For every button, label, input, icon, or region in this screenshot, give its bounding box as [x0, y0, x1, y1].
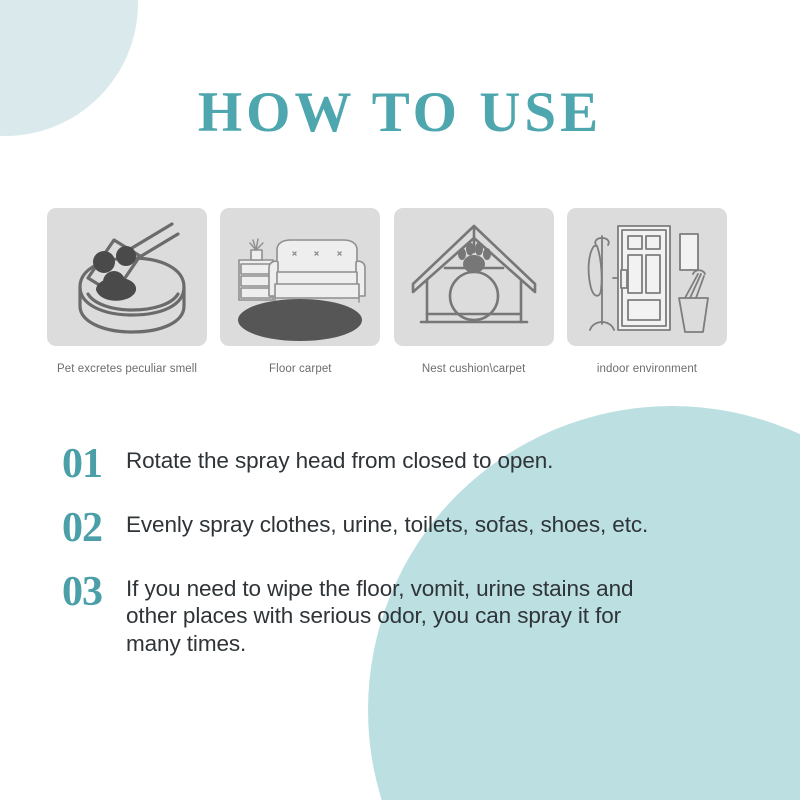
step-text-02: Evenly spray clothes, urine, toilets, so… — [126, 511, 648, 538]
how-to-use-poster: HOW TO USE — [0, 0, 800, 800]
scenario-caption-3: Nest cushion\carpet — [422, 363, 526, 375]
scenario-caption-1: Pet excretes peculiar smell — [57, 363, 197, 375]
entryway-door-icon — [572, 212, 722, 342]
scenario-panel-row: Pet excretes peculiar smell — [47, 208, 727, 375]
step-text-03-line-2: other places with serious odor, you can … — [126, 602, 748, 629]
scenario-caption-4: indoor environment — [597, 363, 697, 375]
pet-house-paw-icon — [399, 212, 549, 342]
pet-house-paw-panel — [394, 208, 554, 346]
scenario-panel-2: Floor carpet — [220, 208, 380, 375]
entryway-door-panel — [567, 208, 727, 346]
step-item-02: 02 Evenly spray clothes, urine, toilets,… — [62, 507, 752, 549]
step-text-03-line-3: many times. — [126, 630, 748, 657]
step-text-03: If you need to wipe the floor, vomit, ur… — [126, 575, 748, 657]
step-number-02: 02 — [62, 507, 126, 549]
step-text-01: Rotate the spray head from closed to ope… — [126, 447, 553, 474]
scenario-panel-1: Pet excretes peculiar smell — [47, 208, 207, 375]
step-number-01: 01 — [62, 443, 126, 485]
steps-list: 01 Rotate the spray head from closed to … — [62, 443, 752, 679]
step-number-03: 03 — [62, 571, 126, 613]
scenario-caption-2: Floor carpet — [269, 363, 332, 375]
step-item-03: 03 If you need to wipe the floor, vomit,… — [62, 571, 752, 657]
sofa-and-rug-icon — [225, 212, 375, 342]
page-title: HOW TO USE — [0, 84, 800, 141]
litter-box-scoop-icon — [52, 212, 202, 342]
scenario-panel-3: Nest cushion\carpet — [394, 208, 554, 375]
step-item-01: 01 Rotate the spray head from closed to … — [62, 443, 752, 485]
sofa-and-rug-panel — [220, 208, 380, 346]
litter-box-scoop-panel — [47, 208, 207, 346]
step-text-03-line-1: If you need to wipe the floor, vomit, ur… — [126, 575, 748, 602]
scenario-panel-4: indoor environment — [567, 208, 727, 375]
